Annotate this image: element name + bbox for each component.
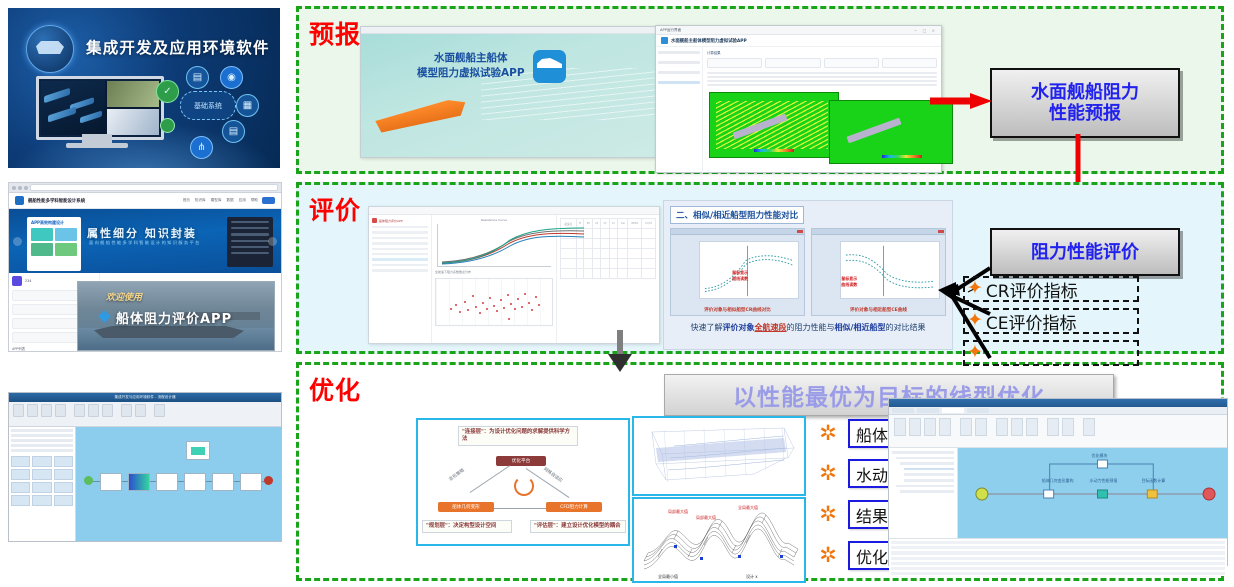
gear-icon-0: ✲	[817, 422, 839, 444]
flow-node-1[interactable]	[100, 473, 122, 491]
footer-prefix: 快速了解	[691, 323, 723, 332]
eval-charts: Resistance Curve 全航速下阻力系数散点分布	[432, 215, 556, 343]
colorbar-1	[754, 149, 794, 152]
hull-resistance-app-banner: 欢迎使用 船体阻力评价APP	[77, 281, 275, 351]
node-green-icon: ✓	[156, 80, 179, 103]
ce-curve-plot	[840, 241, 940, 299]
nav-item-2[interactable]	[658, 71, 700, 74]
optimization-triangle-card: "连接层"：为设计优化问题的求解提供科学方法 优化平台 变形策略 网格自适应 船…	[416, 418, 630, 546]
hull-mesh-deformation-image	[632, 416, 806, 496]
app-main	[9, 427, 281, 542]
splash-title: 水面舰船主船体 模型阻力虚拟试验APP	[417, 51, 525, 81]
app-name: 水面舰船主船体模型阻力虚拟试验APP	[671, 38, 747, 44]
tri-edge-left: 变形策略	[448, 467, 466, 482]
wave-ship-app-icon	[533, 50, 566, 83]
tri-cap-right: "评估层"：建立设计优化模型的耦合	[530, 520, 626, 533]
optimization-workflow-window[interactable]: 船体几何变形重构 水动力性能预报 目标函数计算 优化模块	[888, 398, 1228, 566]
ce-annotation: 鼠标显示曲线读数	[841, 276, 857, 288]
nav-item-1[interactable]	[658, 61, 700, 64]
comparison-section-title: 二、相似/相近船型阻力性能对比	[670, 206, 804, 224]
svg-text:局部最大值: 局部最大值	[668, 508, 688, 514]
star-icon-ce: ✦	[967, 311, 983, 330]
nav-links[interactable]: 首页知识库模型库数据应用帮助	[183, 198, 258, 203]
star-icon-blank: ✦	[967, 343, 983, 362]
cr-annotation: 鼠标显示曲线读数	[732, 270, 748, 282]
colorbar-2	[882, 155, 922, 158]
opt-tab-1[interactable]	[917, 408, 939, 413]
gray-arrow-down	[606, 330, 634, 372]
cycle-icon	[514, 476, 534, 496]
monitor-stand	[82, 134, 112, 143]
coefficient-scatter-chart	[435, 278, 553, 326]
result-box-forecast[interactable]: 水面舰船阻力 性能预报	[990, 68, 1180, 138]
hero-subtitle: 面向舰船性能多学科智能设计的知识服务平台	[89, 240, 201, 246]
avatar	[12, 276, 22, 286]
indicator-label-ce: CE评价指标	[986, 309, 1077, 334]
ribbon-toolbar[interactable]	[9, 402, 281, 427]
svg-text:全局最大值: 全局最大值	[738, 504, 758, 510]
cfd-view-wave[interactable]	[709, 92, 839, 158]
indicator-chip-cr[interactable]: ✦ CR评价指标	[963, 276, 1139, 302]
eval-app-nav[interactable]: 船体阻力评价APP	[369, 215, 432, 343]
site-hero: APP高效构建设计 属性细分 知识封装 面向舰船性能多学科智能设计的知识服务平台	[9, 209, 281, 273]
forecast-app-window[interactable]: APP运行界面 − □ × 水面舰船主船体模型阻力虚拟试验APP 计算结果	[655, 25, 942, 173]
flow-subnode[interactable]	[186, 441, 210, 460]
table-row	[561, 269, 656, 279]
site-navbar: 舰船性能多学科智能设计系统 首页知识库模型库数据应用帮助	[9, 193, 281, 209]
svg-text:全局最小值: 全局最小值	[658, 573, 678, 579]
footer-u: 全航速段	[755, 323, 787, 332]
scatter-title: 全航速下阻力系数散点分布	[435, 270, 553, 274]
eval-nav-3[interactable]	[372, 258, 428, 260]
eval-app-icon	[372, 218, 377, 223]
node-database-icon: ▤	[186, 66, 209, 89]
splash-title-line2: 模型阻力虚拟试验APP	[417, 67, 525, 79]
flow-node-4[interactable]	[184, 473, 206, 491]
node-storage-icon: ▤	[222, 120, 245, 143]
app-banner-title: 船体阻力评价APP	[116, 308, 232, 327]
app-window-title: 集成开发与应用环境软件 - 流程设计器	[114, 395, 175, 400]
opt-project-tree[interactable]	[889, 448, 958, 538]
app-nav[interactable]	[656, 47, 703, 173]
box-forecast-line1: 水面舰船阻力	[1031, 82, 1139, 103]
step-tab-1[interactable]	[765, 58, 820, 68]
eval-app-window[interactable]: 船体阻力评价APP Resistance Curve 全航速下阻力系数散点分布	[368, 206, 660, 344]
step-tabs[interactable]	[707, 58, 937, 68]
eval-chart-title: Resistance Curve	[435, 218, 553, 222]
star-icon-cr: ✦	[967, 279, 983, 298]
carousel-next-icon[interactable]	[268, 237, 277, 246]
eval-window-titlebar	[369, 207, 659, 215]
flow-end-node[interactable]	[264, 476, 273, 485]
opt-ribbon[interactable]	[889, 415, 1227, 448]
opt-window-tabs[interactable]	[889, 407, 1227, 415]
thumbnail-integrated-dev-env[interactable]: 集成开发及应用环境软件 基础系统 ✓ ▤ ◉ ▦ ▤ ⋔	[8, 8, 280, 168]
opt-window-titlebar	[889, 399, 1227, 407]
flow-node-2[interactable]	[128, 473, 150, 491]
ce-caption: 评价对象与相近船型CE曲线	[812, 307, 945, 313]
node-grid-icon: ▦	[236, 94, 259, 117]
gear-icon-3: ✲	[817, 544, 839, 566]
site-body: 234 APP列表 欢迎使用 船体阻力评价APP	[9, 273, 281, 351]
cloud-node: 基础系统	[180, 91, 236, 120]
left-thumbnail-column: 集成开发及应用环境软件 基础系统 ✓ ▤ ◉ ▦ ▤ ⋔ 舰船性能多学科智能设计…	[0, 0, 288, 587]
svg-text:水动力性能预报: 水动力性能预报	[1090, 477, 1118, 483]
objective-response-surface-image: 局部最大值 全局最大值 局部最大值 全局最小值 设计 x	[632, 497, 806, 583]
nav-item-3[interactable]	[658, 81, 700, 84]
flow-node-5[interactable]	[212, 473, 234, 491]
opt-tab-2[interactable]	[942, 408, 964, 413]
opt-flow-canvas[interactable]: 船体几何变形重构 水动力性能预报 目标函数计算 优化模块	[958, 448, 1227, 538]
tri-node-top: 优化平台	[496, 456, 546, 466]
node-share-icon: ⋔	[190, 136, 213, 159]
stage-label-eval: 评价	[309, 191, 361, 227]
eval-nav-1[interactable]	[372, 248, 428, 250]
orange-hull-render	[374, 97, 468, 134]
red-arrow-right	[930, 93, 992, 109]
globe-icon	[160, 118, 175, 133]
monitor-base	[66, 143, 128, 148]
gear-icon-1: ✲	[817, 462, 839, 484]
eval-nav-2[interactable]	[372, 253, 428, 255]
carousel-prev-icon[interactable]	[13, 237, 22, 246]
indicator-label-cr: CR评价指标	[986, 277, 1078, 302]
opt-tab-3[interactable]	[967, 408, 989, 413]
tri-node-left: 船体几何变形	[438, 502, 494, 512]
flow-start-node[interactable]	[84, 476, 93, 485]
comparison-window-ce[interactable]: 鼠标显示曲线读数 评价对象与相近船型CE曲线	[811, 228, 946, 316]
account-button[interactable]	[262, 197, 275, 204]
tri-node-right: CFD阻力计算	[546, 502, 602, 512]
thumb1-title: 集成开发及应用环境软件	[86, 36, 270, 58]
tri-cap-top: "连接层"：为设计优化问题的求解提供科学方法	[458, 426, 578, 446]
svg-text:优化模块: 优化模块	[1092, 452, 1108, 458]
app-header: 水面舰船主船体模型阻力虚拟试验APP	[656, 35, 941, 47]
splash-titlebar	[361, 27, 661, 34]
hull-shape-2	[846, 118, 901, 144]
splash-title-line1: 水面舰船主船体	[434, 52, 508, 64]
cr-curve-plot	[699, 241, 799, 299]
warship-hull	[94, 326, 244, 338]
cr-caption: 评价对象与相似船型CR曲线对比	[671, 307, 804, 313]
splash-artwork: 水面舰船主船体 模型阻力虚拟试验APP	[361, 34, 661, 157]
eval-comparison-card: 二、相似/相近船型阻力性能对比 鼠标显示曲线读数 评价对象与相似船型CR曲线对比	[663, 200, 953, 350]
nav-item-0[interactable]	[658, 51, 700, 54]
app-icon	[661, 37, 668, 44]
thumbnail-platform-website[interactable]: 舰船性能多学科智能设计系统 首页知识库模型库数据应用帮助 APP高效构建设计 属…	[8, 182, 282, 352]
app-welcome-text: 欢迎使用	[106, 290, 142, 303]
flow-node-6[interactable]	[240, 473, 262, 491]
step-tab-0[interactable]	[707, 58, 762, 68]
indicator-chip-ce[interactable]: ✦ CE评价指标	[963, 308, 1139, 334]
comparison-window-cr[interactable]: 鼠标显示曲线读数 评价对象与相似船型CR曲线对比	[670, 228, 805, 316]
browser-url-bar	[9, 183, 281, 193]
thumbnail-workflow-app[interactable]: 集成开发与应用环境软件 - 流程设计器	[8, 392, 282, 542]
window-titlebar: APP运行界面 − □ ×	[656, 26, 941, 35]
app-left-panel[interactable]	[9, 427, 76, 542]
box-forecast-line2: 性能预报	[1049, 103, 1121, 124]
hero-title: 属性细分 知识封装	[87, 225, 197, 241]
window-title: APP运行界面	[660, 28, 681, 33]
step-tab-2[interactable]	[824, 58, 879, 68]
app-titlebar: 集成开发与应用环境软件 - 流程设计器	[9, 393, 281, 402]
hero-notice-panel	[227, 217, 273, 267]
forecast-app-splash[interactable]: 水面舰船主船体 模型阻力虚拟试验APP	[360, 26, 662, 158]
cfd-view-hull[interactable]	[829, 100, 953, 164]
step-tab-3[interactable]	[882, 58, 937, 68]
site-logo-icon	[15, 196, 24, 205]
footer-b2: 相似/相近船型	[835, 323, 886, 332]
app-content: 计算结果	[703, 47, 941, 173]
section-title: 计算结果	[707, 50, 937, 55]
description-text	[707, 72, 937, 86]
window-controls[interactable]: − □ ×	[914, 28, 937, 33]
stage-label-forecast: 预报	[309, 15, 361, 51]
eval-nav-0[interactable]	[372, 242, 428, 244]
footer-suffix: 的对比结果	[885, 323, 925, 332]
hero-card: APP高效构建设计	[27, 217, 81, 271]
monitor-illustration	[36, 76, 164, 140]
workflow-canvas[interactable]	[76, 427, 281, 542]
diamond-icon	[98, 310, 111, 323]
indicator-chip-blank[interactable]: ✦	[963, 340, 1139, 366]
footer-b1: 评价对象	[723, 323, 755, 332]
svg-text:船体几何变形重构: 船体几何变形重构	[1042, 477, 1074, 483]
site-title: 舰船性能多学科智能设计系统	[28, 198, 85, 204]
stage-label-opt: 优化	[309, 371, 361, 407]
footer-mid: 的阻力性能与	[787, 323, 835, 332]
node-search-icon: ◉	[220, 66, 243, 89]
eval-app-name: 船体阻力评价APP	[379, 219, 403, 223]
hero-card-title: APP高效构建设计	[31, 220, 79, 226]
opt-parameter-table[interactable]	[889, 538, 1227, 576]
resistance-curve-chart	[437, 224, 551, 267]
opt-tab-0[interactable]	[892, 408, 914, 413]
cfd-result-views	[707, 90, 937, 162]
tri-cap-left: "规划层"：决定构型设计空间	[422, 520, 512, 533]
comparison-footer: 快速了解评价对象全航速段的阻力性能与相似/相近船型的对比结果	[664, 322, 952, 333]
gear-icon-2: ✲	[817, 503, 839, 525]
flow-node-3[interactable]	[156, 473, 178, 491]
abb-studio-logo-icon	[26, 25, 74, 73]
svg-text:目标函数计算: 目标函数计算	[1141, 477, 1165, 483]
svg-text:设计 x: 设计 x	[746, 573, 758, 579]
svg-text:局部最大值: 局部最大值	[696, 514, 716, 520]
